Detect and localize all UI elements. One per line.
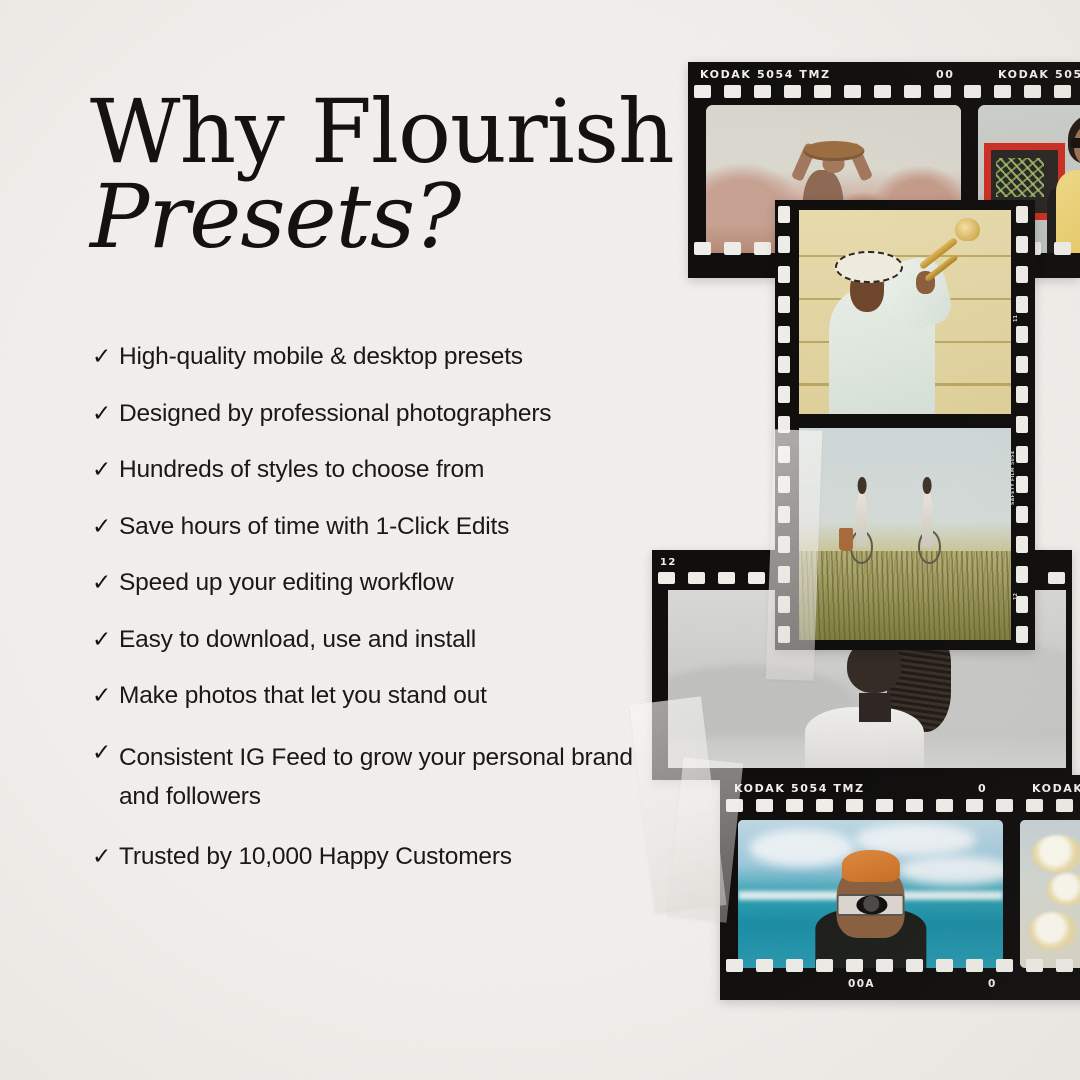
checkmark-icon: ✓ (92, 568, 119, 598)
film-label-kodak-1: KODAK 5054 TMZ (700, 68, 831, 81)
list-item: ✓ Trusted by 10,000 Happy Customers (92, 842, 678, 872)
film-label-bottom-number-4: 0 (988, 978, 997, 990)
film-label-frame-number-top: 00 (936, 68, 955, 81)
film-label-kodak-3: KODAK 5054 TMZ (734, 782, 865, 795)
list-item-label: Designed by professional photographers (119, 399, 678, 429)
sprocket-row-top (688, 83, 1080, 100)
sprocket-row-bottom (720, 957, 1080, 974)
page-title-line-1: Why Flourish (90, 92, 670, 173)
photo-frame-cyclists-field (799, 428, 1011, 640)
list-item-label: Speed up your editing workflow (119, 568, 678, 598)
list-item: ✓ High-quality mobile & desktop presets (92, 342, 678, 372)
list-item-label: Make photos that let you stand out (119, 681, 678, 711)
list-item: ✓ Consistent IG Feed to grow your person… (92, 738, 678, 816)
photo-frame-white-flowers (1020, 820, 1080, 968)
checkmark-icon: ✓ (92, 512, 119, 542)
list-item: ✓ Save hours of time with 1-Click Edits (92, 512, 678, 542)
list-item: ✓ Designed by professional photographers (92, 399, 678, 429)
checkmark-icon: ✓ (92, 842, 119, 872)
film-side-number-3: 11 (1013, 315, 1019, 322)
list-item: ✓ Hundreds of styles to choose from (92, 455, 678, 485)
sprocket-column-right (1016, 200, 1032, 650)
filmstrip-bottom: KODAK 5054 TMZ 0 KODAK 50 (720, 775, 1080, 1000)
checkmark-icon: ✓ (92, 342, 119, 372)
list-item-label: Save hours of time with 1-Click Edits (119, 512, 678, 542)
film-side-label-right: SAFETY FILM 5054 (1011, 451, 1016, 505)
photo-frame-camera-girl (738, 820, 1003, 968)
checkmark-icon: ✓ (92, 681, 119, 711)
list-item: ✓ Make photos that let you stand out (92, 681, 678, 711)
page-title: Why Flourish Presets? (90, 92, 670, 258)
sprocket-row-top (720, 797, 1080, 814)
film-collage: KODAK 5054 TMZ 00 KODAK 5054 T (620, 0, 1080, 1080)
list-item: ✓ Speed up your editing workflow (92, 568, 678, 598)
list-item-label: Hundreds of styles to choose from (119, 455, 678, 485)
checkmark-icon: ✓ (92, 455, 119, 485)
list-item-label: Consistent IG Feed to grow your personal… (119, 738, 678, 816)
film-side-number-4: 12 (1013, 593, 1019, 600)
list-item-label: Easy to download, use and install (119, 625, 678, 655)
checkmark-icon: ✓ (92, 738, 119, 768)
content-column: Why Flourish Presets? ✓ High-quality mob… (0, 0, 680, 1080)
film-label-kodak-2: KODAK 5054 T (998, 68, 1080, 81)
paper-scrap (766, 429, 823, 681)
photo-frame-trumpet-player (799, 210, 1011, 414)
film-label-kodak-4: KODAK 50 (1032, 782, 1080, 795)
list-item-label: High-quality mobile & desktop presets (119, 342, 678, 372)
checkmark-icon: ✓ (92, 625, 119, 655)
page-title-line-2: Presets? (90, 177, 670, 258)
list-item: ✓ Easy to download, use and install (92, 625, 678, 655)
film-label-bottom-number-3: 00A (848, 978, 875, 990)
list-item-label: Trusted by 10,000 Happy Customers (119, 842, 678, 872)
film-label-frame-number-bottom: 0 (978, 782, 987, 795)
benefit-list: ✓ High-quality mobile & desktop presets … (92, 342, 678, 899)
checkmark-icon: ✓ (92, 399, 119, 429)
